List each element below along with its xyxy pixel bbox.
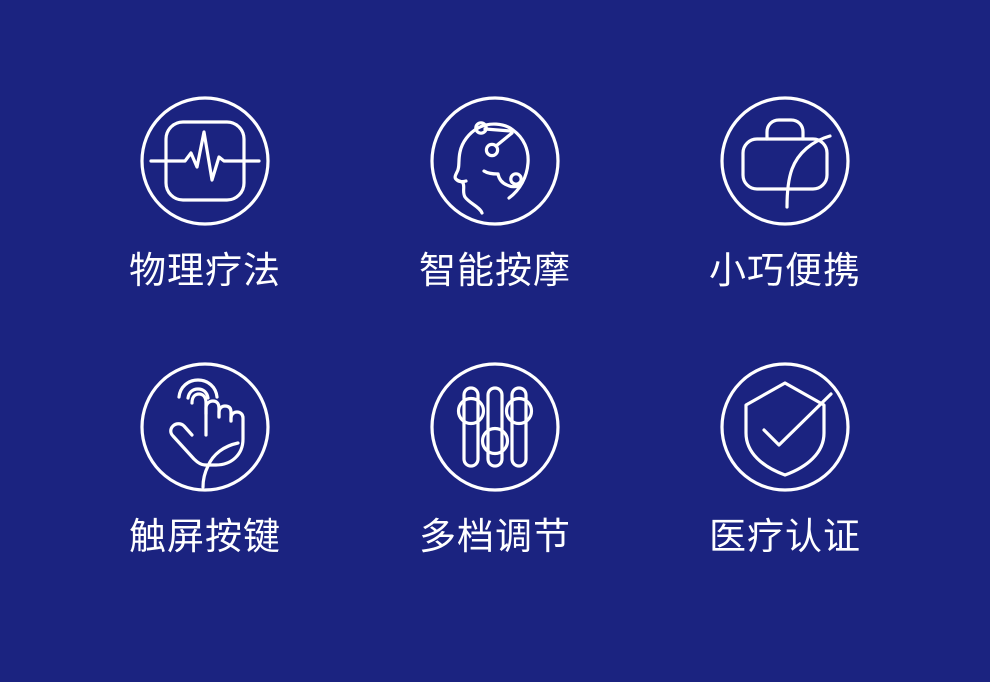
feature-label: 医疗认证 — [709, 517, 861, 558]
feature-medical-certification: 医疗认证 — [640, 361, 930, 558]
feature-grid: 物理疗法 智能按摩 — [0, 0, 990, 682]
feature-label: 小巧便携 — [709, 251, 861, 292]
shield-check-icon — [719, 361, 851, 493]
feature-label: 物理疗法 — [129, 251, 281, 292]
feature-smart-massage: 智能按摩 — [350, 95, 640, 292]
smart-head-icon — [429, 95, 561, 227]
sliders-icon — [429, 361, 561, 493]
ecg-monitor-icon — [139, 95, 271, 227]
feature-label: 多档调节 — [419, 517, 571, 558]
feature-multi-level-adjust: 多档调节 — [350, 361, 640, 558]
feature-label: 触屏按键 — [129, 517, 281, 558]
feature-touch-buttons: 触屏按键 — [60, 361, 350, 558]
feature-compact-portable: 小巧便携 — [640, 95, 930, 292]
feature-physical-therapy: 物理疗法 — [60, 95, 350, 292]
briefcase-portable-icon — [719, 95, 851, 227]
feature-label: 智能按摩 — [419, 251, 571, 292]
touch-hand-icon — [139, 361, 271, 493]
